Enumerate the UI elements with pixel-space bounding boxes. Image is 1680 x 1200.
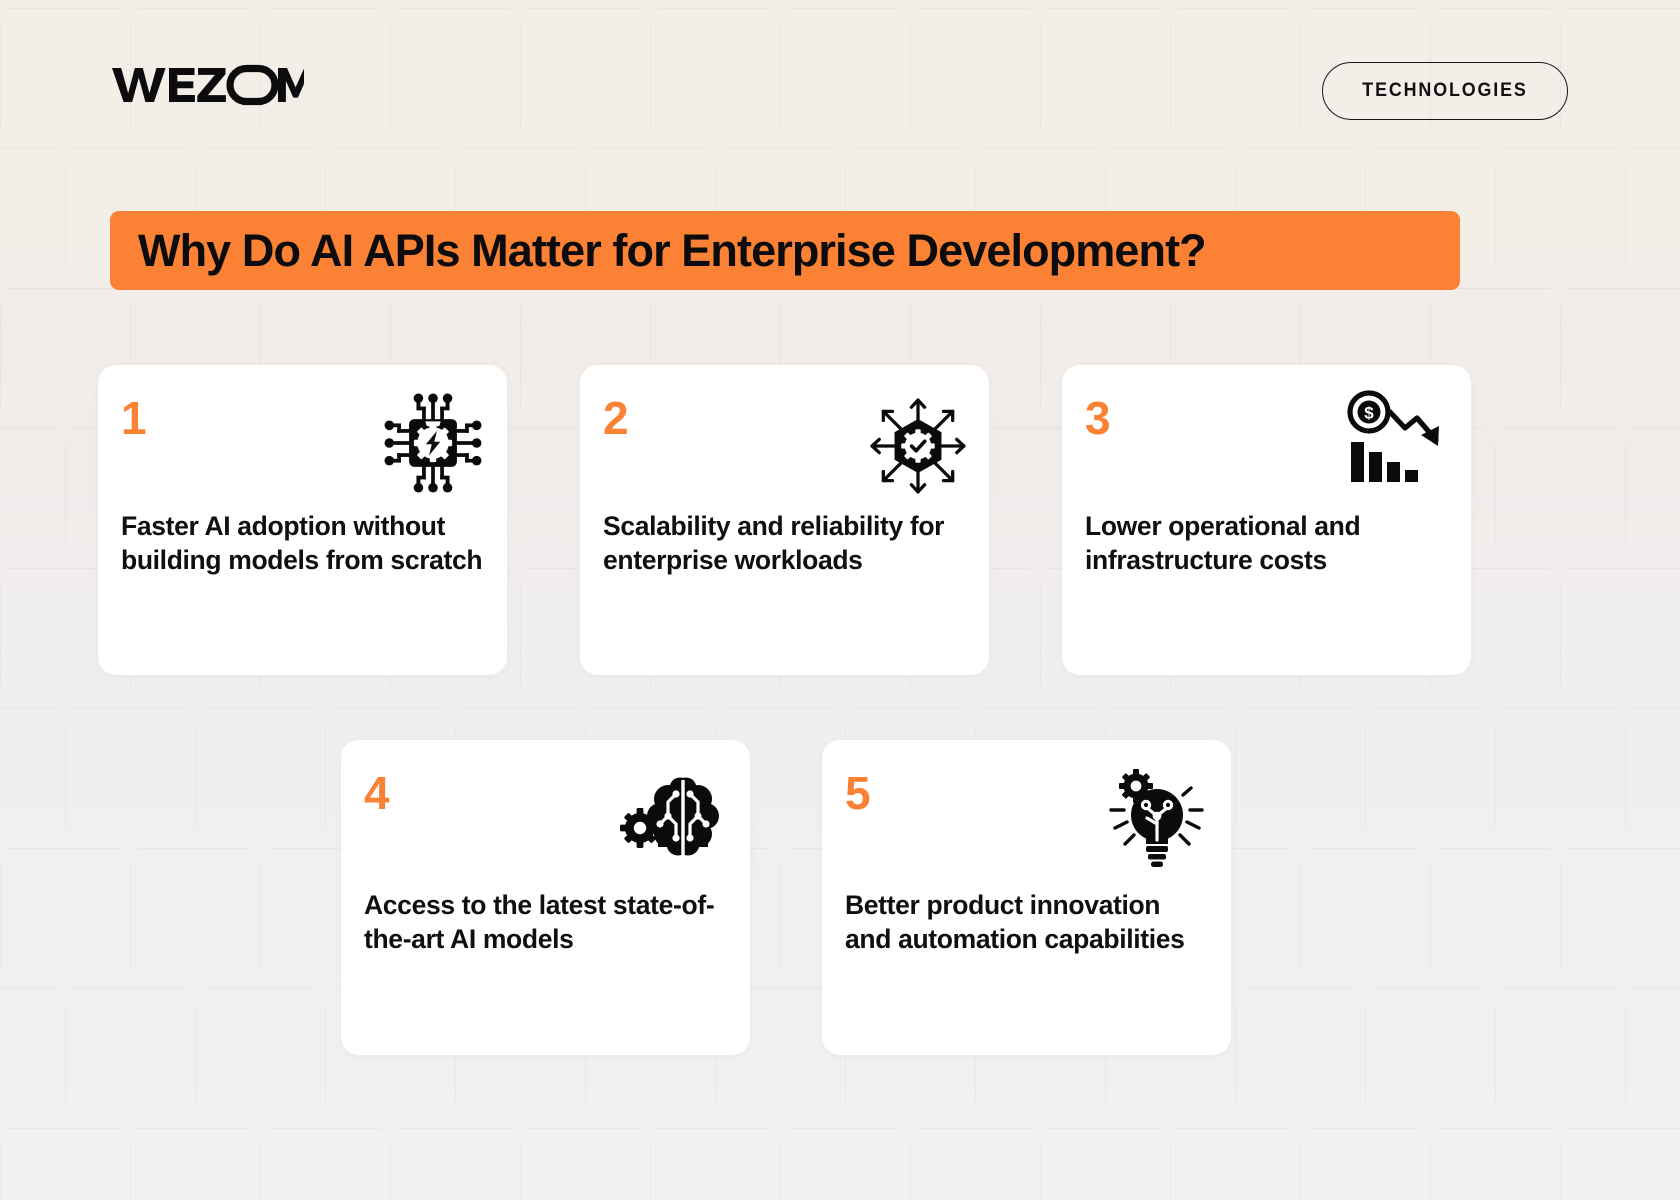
card-number: 4 [364, 770, 390, 816]
card-number: 2 [603, 395, 629, 441]
card-text: Scalability and reliability for enterpri… [603, 509, 969, 577]
card-number: 3 [1085, 395, 1111, 441]
benefit-card-5[interactable]: 5 [822, 740, 1231, 1055]
brain-gear-icon [620, 772, 730, 868]
benefit-card-4[interactable]: 4 [341, 740, 750, 1055]
technologies-badge-label: TECHNOLOGIES [1362, 80, 1527, 102]
card-number: 5 [845, 770, 871, 816]
card-text: Better product innovation and automation… [845, 888, 1211, 956]
benefit-card-1[interactable]: 1 [98, 365, 507, 675]
card-text: Lower operational and infrastructure cos… [1085, 509, 1451, 577]
lightbulb-gear-idea-icon [1105, 766, 1209, 874]
cost-reduction-chart-icon: $ [1343, 389, 1453, 491]
card-text: Access to the latest state-of-the-art AI… [364, 888, 730, 956]
benefit-card-3[interactable]: 3 $ Lower operation [1062, 365, 1471, 675]
scalable-cube-arrows-icon [867, 395, 969, 497]
svg-text:$: $ [1364, 404, 1374, 423]
wezom-logo[interactable] [112, 64, 304, 106]
benefit-card-2[interactable]: 2 [580, 365, 989, 675]
header: TECHNOLOGIES [112, 56, 1568, 132]
page-title: Why Do AI APIs Matter for Enterprise Dev… [138, 228, 1206, 273]
card-number: 1 [121, 395, 147, 441]
infographic-page: TECHNOLOGIES Why Do AI APIs Matter for E… [0, 0, 1680, 1200]
technologies-badge[interactable]: TECHNOLOGIES [1322, 62, 1568, 120]
title-banner: Why Do AI APIs Matter for Enterprise Dev… [110, 211, 1460, 290]
card-text: Faster AI adoption without building mode… [121, 509, 487, 577]
microchip-gear-bolt-icon [381, 391, 485, 495]
